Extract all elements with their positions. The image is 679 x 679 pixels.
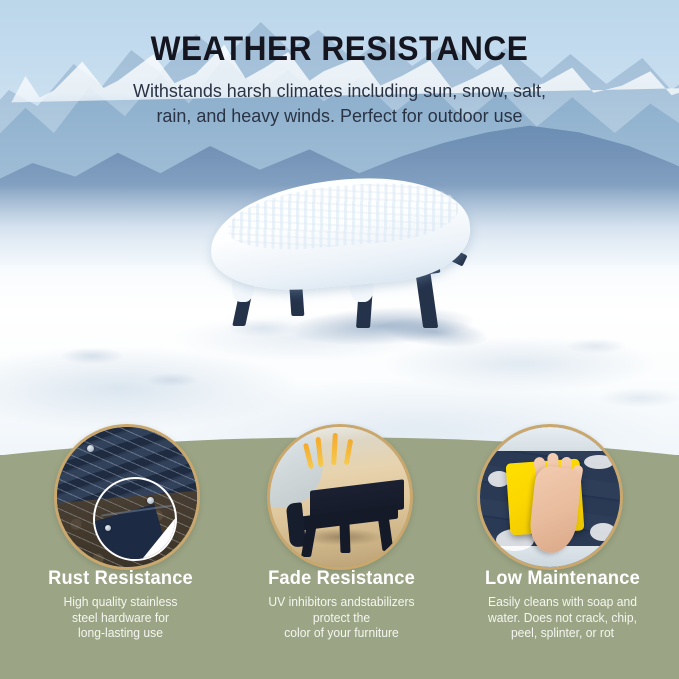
feature-low-maintenance[interactable]: Low Maintenance Easily cleans with soap …: [452, 568, 679, 642]
snow-layer-on-bench: [206, 169, 474, 297]
feature-rust-resistance[interactable]: Rust Resistance High quality stainless s…: [0, 568, 231, 642]
feature-image-rust-resistance[interactable]: [54, 424, 200, 570]
feature-desc-line-1: High quality stainless: [64, 595, 178, 609]
feature-desc-line-1: Easily cleans with soap and: [488, 595, 637, 609]
feature-title: Fade Resistance: [243, 568, 440, 590]
feature-desc-line-2: steel hardware for: [72, 611, 169, 625]
magnifier-inset: [93, 477, 177, 561]
beach-bench: [288, 485, 404, 555]
feature-description: High quality stainless steel hardware fo…: [21, 595, 220, 642]
page-subtitle: Withstands harsh climates including sun,…: [10, 78, 669, 128]
deck-top-board: [480, 427, 620, 451]
bench-leg: [339, 523, 350, 553]
page-title: WEATHER RESISTANCE: [24, 30, 655, 69]
subtitle-line-1: Withstands harsh climates including sun,…: [10, 78, 669, 103]
snow-covered-bench: [210, 180, 490, 340]
feature-image-low-maintenance[interactable]: [477, 424, 623, 570]
feature-desc-line-1: UV inhibitors andstabilizers: [268, 595, 414, 609]
feature-image-row: [0, 424, 679, 576]
header-block: WEATHER RESISTANCE Withstands harsh clim…: [0, 0, 679, 128]
subtitle-line-2: rain, and heavy winds. Perfect for outdo…: [10, 103, 669, 128]
feature-desc-line-3: color of your furniture: [284, 626, 399, 640]
soap-suds-icon: [590, 523, 616, 541]
feature-title: Low Maintenance: [464, 568, 661, 590]
bench-leg: [377, 515, 393, 551]
feature-description: Easily cleans with soap and water. Does …: [463, 595, 662, 642]
infographic-canvas: WEATHER RESISTANCE Withstands harsh clim…: [0, 0, 679, 679]
stainless-screw-icon: [147, 497, 154, 504]
feature-fade-resistance[interactable]: Fade Resistance UV inhibitors andstabili…: [231, 568, 452, 642]
feature-title: Rust Resistance: [22, 568, 219, 590]
feature-desc-line-3: peel, splinter, or rot: [511, 626, 614, 640]
screw-icon: [87, 445, 94, 452]
feature-description: UV inhibitors andstabilizers protect the…: [242, 595, 441, 642]
feature-desc-line-3: long-lasting use: [78, 626, 163, 640]
soap-suds-icon: [584, 455, 614, 469]
feature-caption-row: Rust Resistance High quality stainless s…: [0, 568, 679, 642]
stainless-screw-icon: [105, 525, 111, 531]
feature-image-fade-resistance[interactable]: [267, 424, 413, 570]
feature-desc-line-2: protect the: [313, 611, 370, 625]
feature-desc-line-2: water. Does not crack, chip,: [488, 611, 637, 625]
